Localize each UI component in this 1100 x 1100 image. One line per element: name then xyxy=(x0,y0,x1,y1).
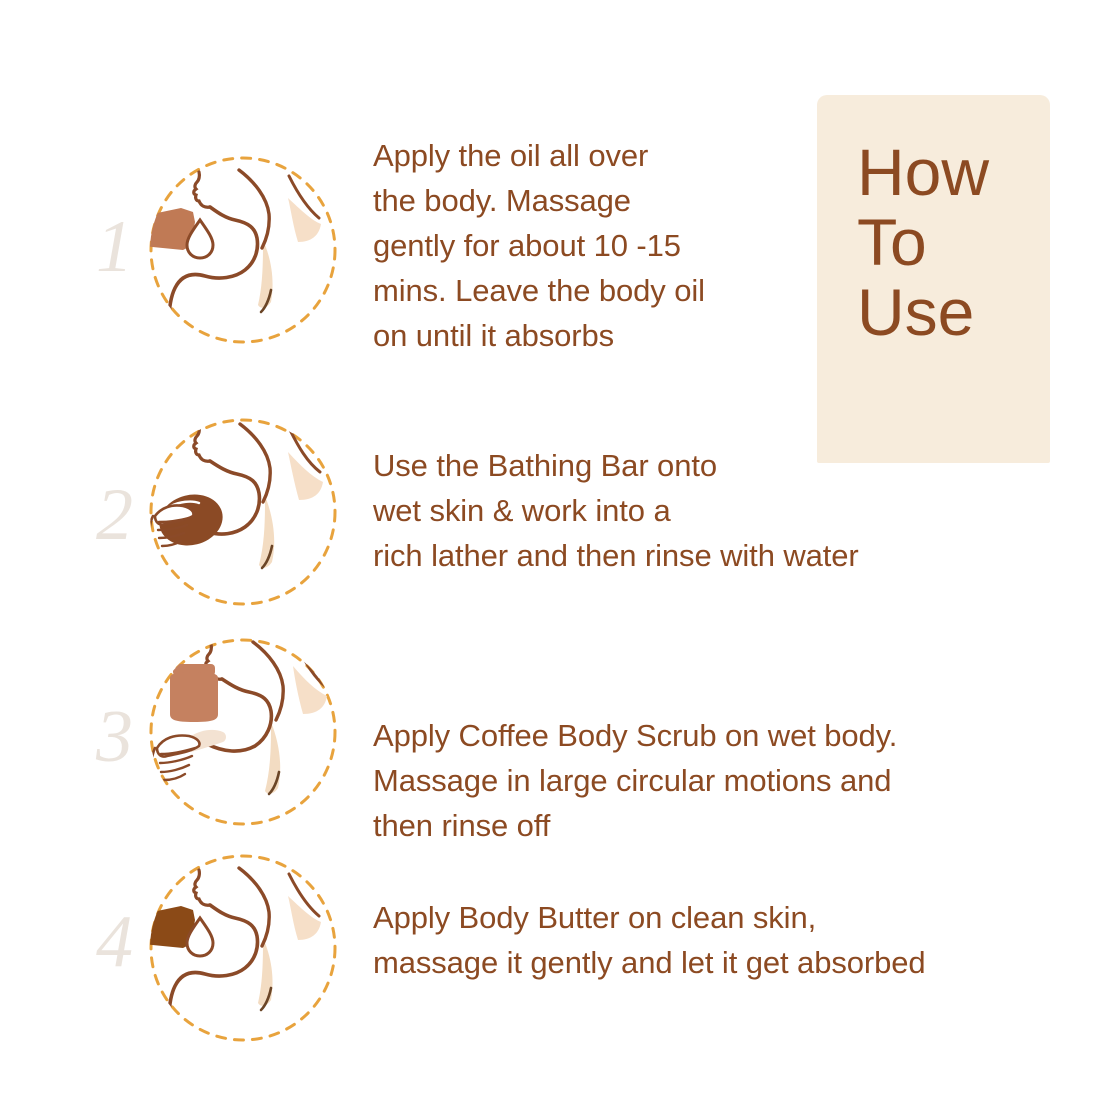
shoulder-highlight xyxy=(288,896,321,940)
back-outline-line xyxy=(239,170,269,248)
step-text-1: Apply the oil all over the body. Massage… xyxy=(373,133,793,358)
body-butter-bottle-drop-icon xyxy=(143,848,343,1048)
finger-4 xyxy=(164,774,185,780)
step-text-4: Apply Body Butter on clean skin, massage… xyxy=(373,895,1053,985)
torso-highlight xyxy=(259,496,274,568)
face-profile-line xyxy=(194,172,210,207)
panel-title-line-1: How xyxy=(857,137,1050,207)
back-outline-line xyxy=(239,868,269,946)
back-outline-line xyxy=(240,424,270,502)
step-number-1: 1 xyxy=(96,210,133,284)
body-oil-bottle-drop-icon xyxy=(143,150,343,350)
step-illustration-3 xyxy=(143,632,343,837)
step-illustration-4 xyxy=(143,848,343,1053)
finger-4 xyxy=(162,541,181,546)
shoulder-highlight xyxy=(293,666,327,714)
panel-title-line-3: Use xyxy=(857,277,1050,347)
how-to-use-infographic: How To Use 1 xyxy=(0,0,1100,1100)
jar-body xyxy=(170,672,218,722)
step-text-3: Apply Coffee Body Scrub on wet body. Mas… xyxy=(373,713,1023,848)
step-number-2: 2 xyxy=(96,478,133,552)
bathing-bar-hand-icon xyxy=(143,412,343,612)
back-outline-line xyxy=(253,642,283,720)
panel-title-line-2: To xyxy=(857,207,1050,277)
finger-3 xyxy=(161,765,189,772)
how-to-use-panel: How To Use xyxy=(817,95,1050,463)
step-number-4: 4 xyxy=(96,905,133,979)
scrub-jar-hand-icon xyxy=(143,632,343,832)
step-illustration-1 xyxy=(143,150,343,355)
step-number-3: 3 xyxy=(96,700,133,774)
step-illustration-2 xyxy=(143,412,343,617)
step-text-2: Use the Bathing Bar onto wet skin & work… xyxy=(373,443,993,578)
face-profile-line xyxy=(194,870,210,905)
dashed-ring xyxy=(151,856,335,1040)
shoulder-highlight xyxy=(288,198,321,242)
dashed-ring xyxy=(151,158,335,342)
